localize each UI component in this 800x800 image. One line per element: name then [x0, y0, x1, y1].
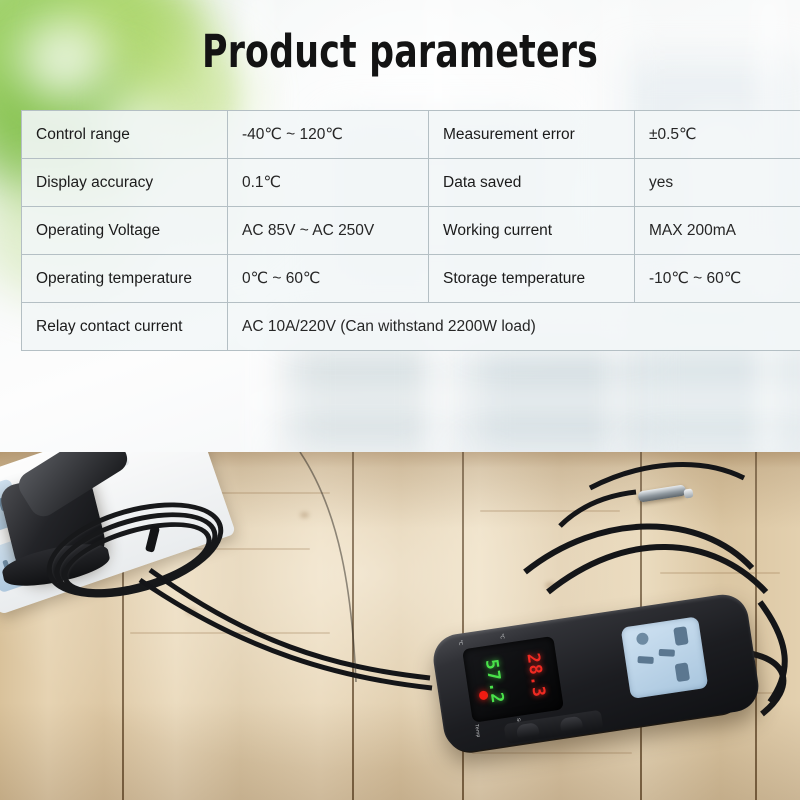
socket-slot-bottom — [675, 662, 691, 682]
spec-value: 0.1℃ — [228, 159, 429, 207]
spec-table: Control range -40℃ ~ 120℃ Measurement er… — [21, 110, 800, 351]
spec-value: MAX 200mA — [635, 207, 800, 255]
socket-slot-right — [659, 649, 675, 657]
spec-key: Relay contact current — [22, 303, 228, 351]
socket-earth-pin — [636, 632, 650, 646]
table-row: Relay contact current AC 10A/220V (Can w… — [22, 303, 800, 351]
spec-value: yes — [635, 159, 800, 207]
spec-key: Working current — [429, 207, 635, 255]
temp-label: Temp — [473, 724, 481, 738]
table-row: Control range -40℃ ~ 120℃ Measurement er… — [22, 111, 800, 159]
spec-value: 0℃ ~ 60℃ — [228, 255, 429, 303]
spec-sheet-area: Product parameters Control range -40℃ ~ … — [0, 0, 800, 452]
spec-key: Storage temperature — [429, 255, 635, 303]
spec-value: AC 10A/220V (Can withstand 2200W load) — [228, 303, 800, 351]
spec-value: -10℃ ~ 60℃ — [635, 255, 800, 303]
spec-key: Data saved — [429, 159, 635, 207]
page-title: Product parameters — [56, 24, 744, 80]
probe-cable — [590, 465, 744, 488]
set-button[interactable] — [516, 722, 540, 738]
cable-thin — [300, 452, 356, 682]
spec-key: Measurement error — [429, 111, 635, 159]
universal-socket — [621, 616, 709, 699]
table-row: Display accuracy 0.1℃ Data saved yes — [22, 159, 800, 207]
probe-tip — [683, 488, 693, 498]
probe-lead — [560, 492, 636, 526]
spec-value: -40℃ ~ 120℃ — [228, 111, 429, 159]
product-parameters-page: Product parameters Control range -40℃ ~ … — [0, 0, 800, 800]
socket-slot-top — [673, 626, 689, 646]
measured-temp-readout: 57.2 — [469, 650, 517, 715]
table-row: Operating temperature 0℃ ~ 60℃ Storage t… — [22, 255, 800, 303]
spec-key: Operating Voltage — [22, 207, 228, 255]
set-temp-readout: 28.3 — [511, 643, 559, 708]
spec-value: AC 85V ~ AC 250V — [228, 207, 429, 255]
led-display-panel: 57.2 28.3 — [462, 636, 564, 723]
spec-key: Operating temperature — [22, 255, 228, 303]
measured-temp-value: 57.2 — [481, 658, 506, 705]
spec-key: Display accuracy — [22, 159, 228, 207]
celsius-label-right: ℃ — [498, 633, 505, 640]
mode-button[interactable] — [559, 716, 583, 732]
set-temp-value: 28.3 — [522, 652, 547, 699]
window-rail-2 — [240, 395, 800, 407]
socket-slot-left — [637, 656, 653, 664]
table-row: Operating Voltage AC 85V ~ AC 250V Worki… — [22, 207, 800, 255]
cable-main — [150, 570, 430, 678]
spec-value: ±0.5℃ — [635, 111, 800, 159]
celsius-label-left: ℃ — [457, 639, 464, 646]
spec-key: Control range — [22, 111, 228, 159]
product-photo: 57.2 28.3 ℃ ℃ Temp Set — [0, 452, 800, 800]
